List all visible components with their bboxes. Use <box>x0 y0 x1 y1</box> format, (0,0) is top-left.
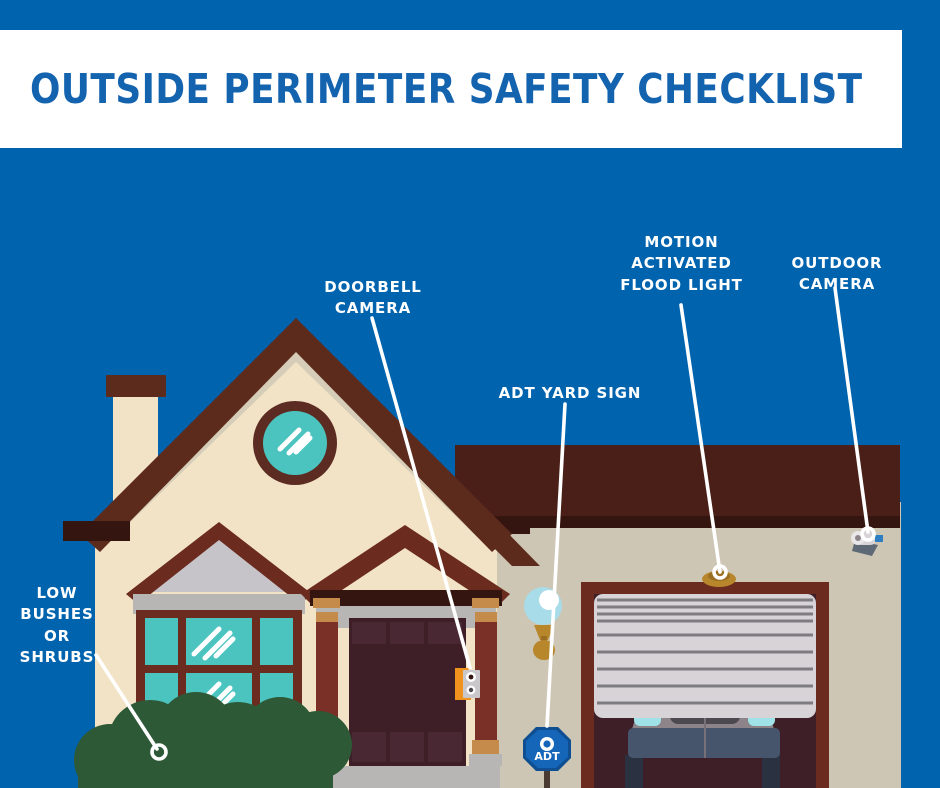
callout-label-outdoor-camera: OUTDOOR CAMERA <box>772 253 902 296</box>
leader-dot-bushes <box>152 745 166 759</box>
title-banner: OUTSIDE PERIMETER SAFETY CHECKLIST <box>0 30 902 148</box>
page-title: OUTSIDE PERIMETER SAFETY CHECKLIST <box>30 65 863 113</box>
leader-outdoor <box>835 288 868 532</box>
leader-yardsign <box>547 404 565 726</box>
callout-label-doorbell-camera: DOORBELL CAMERA <box>298 277 448 320</box>
callout-label-low-bushes: LOW BUSHES OR SHRUBS <box>12 583 102 668</box>
callout-label-motion-flood-light: MOTION ACTIVATED FLOOD LIGHT <box>604 232 759 296</box>
leader-bushes <box>96 655 157 749</box>
leader-doorbell <box>372 318 470 668</box>
leader-flood <box>681 305 720 572</box>
leader-dot-outdoor <box>862 528 874 540</box>
infographic-canvas: ADT OUTSIDE PERIMETER SAFETY CHECKLIST D… <box>0 0 940 788</box>
callout-label-adt-yard-sign: ADT YARD SIGN <box>495 383 645 404</box>
